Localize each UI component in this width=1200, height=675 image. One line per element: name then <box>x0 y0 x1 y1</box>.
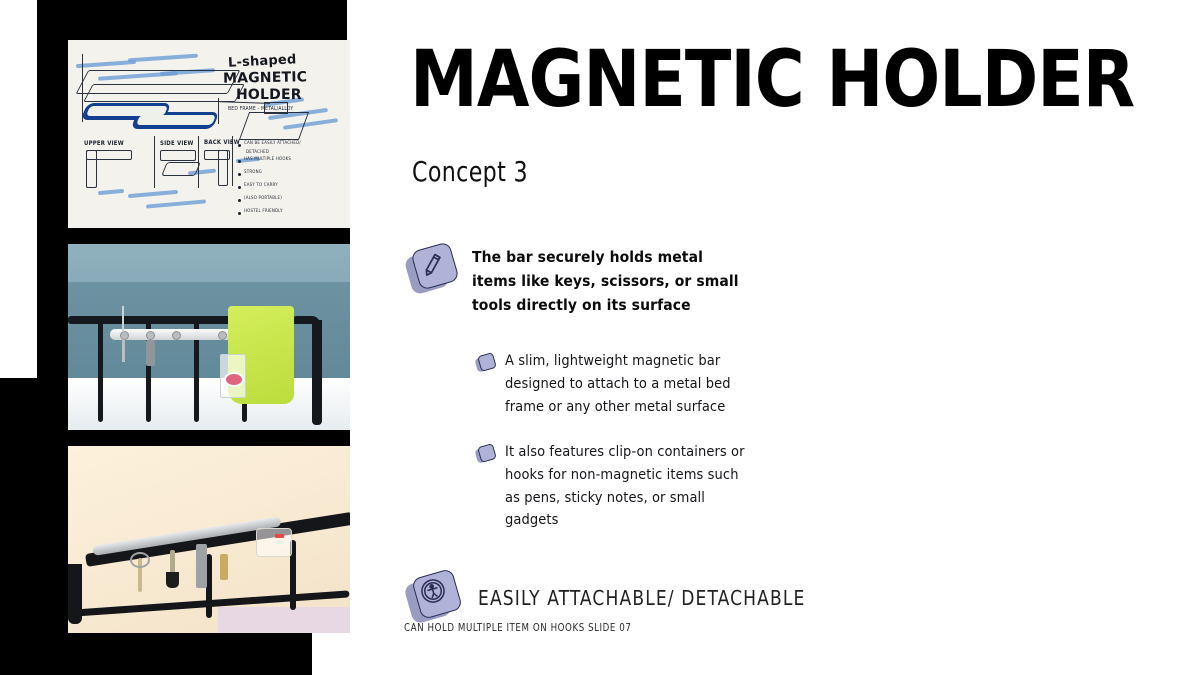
bullet-icon-face <box>477 352 497 372</box>
floor-strip <box>218 607 350 633</box>
hanging-clip <box>146 340 155 366</box>
bed-mattress <box>68 378 350 430</box>
bed-frame-bar-1 <box>98 322 103 422</box>
accessibility-icon <box>408 572 460 624</box>
footer-highlight: EASILY ATTACHABLE/ DETACHABLE <box>408 572 823 624</box>
bed-frame-white-bar-image <box>68 244 350 430</box>
lead-statement: The bar securely holds metal items like … <box>408 245 758 317</box>
sketch-heading-3: HOLDER <box>236 87 302 103</box>
sketch-feature-6: HOSTEL FRIENDLY <box>244 209 283 214</box>
page-subtitle: Concept 3 <box>412 155 528 188</box>
bullet-icon-face <box>477 443 497 463</box>
sketch-heading-1: L-shaped <box>228 52 297 71</box>
list-item: A slim, lightweight magnetic bar designe… <box>476 350 766 419</box>
list-item: It also features clip-on containers or h… <box>476 441 766 533</box>
bed-rail-silver-bar-image <box>68 446 350 633</box>
bullet-text: It also features clip-on containers or h… <box>505 441 755 533</box>
s-hook <box>122 306 124 332</box>
sketch-paper: L-shaped MAGNETIC HOLDER BED FRAME - MET… <box>68 40 350 228</box>
sketch-view-label-side: SIDE VIEW <box>160 140 194 147</box>
sketch-note: BED FRAME - METAL/ALLOY <box>228 106 293 112</box>
bed-frame-post <box>312 320 322 425</box>
footer-heading: EASILY ATTACHABLE/ DETACHABLE <box>478 586 805 610</box>
concept-sketch-image: L-shaped MAGNETIC HOLDER BED FRAME - MET… <box>68 40 350 228</box>
hanging-key <box>122 340 125 362</box>
bar-hole <box>146 331 155 340</box>
bullet-text: A slim, lightweight magnetic bar designe… <box>505 350 755 419</box>
bar-hole <box>172 331 181 340</box>
metal-clip <box>196 544 207 588</box>
lead-text: The bar securely holds metal items like … <box>472 245 740 317</box>
container-contents <box>275 534 284 538</box>
keychain-charm <box>166 572 179 588</box>
bullet-list: A slim, lightweight magnetic bar designe… <box>476 350 766 554</box>
rounded-square-bullet-icon <box>476 445 494 463</box>
sketch-feature-2: HAS MULTIPLE HOOKS <box>244 157 291 162</box>
bar-hole <box>120 331 129 340</box>
rounded-square-bullet-icon <box>476 354 494 372</box>
sketch-view-label-upper: UPPER VIEW <box>84 140 124 147</box>
hanging-key-2 <box>220 554 228 580</box>
pen-icon <box>408 245 458 295</box>
sketch-view-label-back: BACK VIEW <box>204 139 240 146</box>
sketch-heading-2: MAGNETIC <box>223 69 307 86</box>
sketch-feature-4: EASY TO CARRY <box>244 183 278 188</box>
black-gap-lower <box>192 428 350 448</box>
key-ring <box>130 552 150 568</box>
sketch-feature-3: STRONG <box>244 170 262 175</box>
slide-canvas: L-shaped MAGNETIC HOLDER BED FRAME - MET… <box>0 0 1200 675</box>
clear-container <box>256 528 292 557</box>
footer-caption: CAN HOLD MULTIPLE ITEM ON HOOKS SLIDE 07 <box>404 622 631 634</box>
page-title: MAGNETIC HOLDER <box>410 45 1134 117</box>
bar-hole <box>218 331 227 340</box>
pouch-label <box>224 372 244 387</box>
sketch-feature-5: (ALSO PORTABLE) <box>244 196 282 201</box>
